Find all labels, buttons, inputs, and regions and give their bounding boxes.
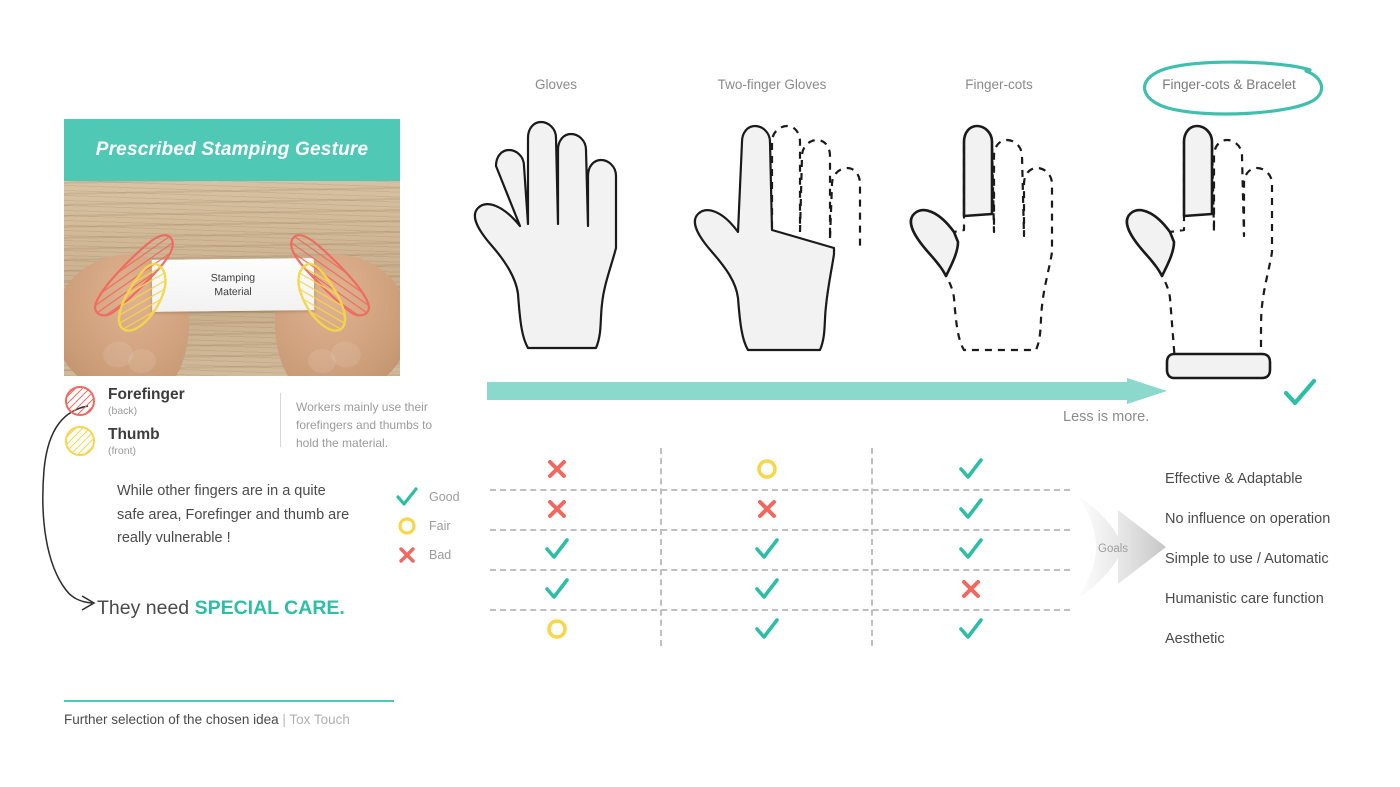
option-title-finger-cots-bracelet[interactable]: Finger-cots & Bracelet bbox=[1162, 77, 1296, 92]
goal-item: Effective & Adaptable bbox=[1165, 459, 1395, 499]
gesture-photo: StampingMaterial bbox=[64, 181, 400, 376]
matrix-cell-check bbox=[745, 612, 789, 646]
matrix-cell-check bbox=[949, 612, 993, 646]
finger-legend: Forefinger (back) Thumb (front) bbox=[64, 385, 404, 465]
circle-icon bbox=[394, 515, 420, 537]
matrix-cell-check bbox=[745, 572, 789, 606]
matrix-cell-check bbox=[949, 492, 993, 526]
comparison-matrix bbox=[490, 452, 1070, 652]
legend-sub-forefinger: (back) bbox=[108, 405, 185, 417]
option-title-gloves[interactable]: Gloves bbox=[535, 77, 577, 92]
legend-note: Workers mainly use their forefingers and… bbox=[296, 399, 456, 452]
slide-canvas: Prescribed Stamping Gesture StampingMate… bbox=[0, 0, 1400, 787]
stamping-material-label: StampingMaterial bbox=[211, 271, 256, 300]
special-care-prefix: They need bbox=[97, 597, 195, 619]
footer-rule bbox=[64, 700, 394, 702]
hatched-circle-icon bbox=[64, 385, 96, 417]
cross-icon bbox=[394, 544, 420, 566]
matrix-cell-circle bbox=[745, 452, 789, 486]
hand-figure-two-finger-gloves bbox=[680, 108, 880, 370]
rating-legend: Good Fair Bad bbox=[394, 482, 460, 569]
goals-arrow-label: Goals bbox=[1098, 543, 1128, 555]
matrix-cell-check bbox=[949, 532, 993, 566]
bracelet-shape bbox=[1167, 354, 1270, 378]
goal-item: Simple to use / Automatic bbox=[1165, 539, 1395, 579]
left-thumb-marker bbox=[114, 261, 176, 335]
body-copy: While other fingers are in a quite safe … bbox=[117, 480, 357, 551]
hatched-circle-icon bbox=[64, 425, 96, 457]
legend-sub-thumb: (front) bbox=[108, 445, 160, 457]
less-is-more-arrow bbox=[487, 378, 1167, 404]
matrix-row-divider bbox=[490, 489, 1070, 491]
special-care-highlight: SPECIAL CARE. bbox=[195, 597, 345, 619]
matrix-cell-cross bbox=[949, 572, 993, 606]
less-is-more-label: Less is more. bbox=[1063, 409, 1149, 425]
footer-sub: Tox Touch bbox=[289, 712, 350, 727]
matrix-cell-check bbox=[745, 532, 789, 566]
card-title: Prescribed Stamping Gesture bbox=[96, 139, 369, 161]
goal-item: Aesthetic bbox=[1165, 619, 1395, 659]
matrix-row-divider bbox=[490, 529, 1070, 531]
option-title-two-finger-gloves[interactable]: Two-finger Gloves bbox=[718, 77, 827, 92]
rating-legend-bad: Bad bbox=[394, 540, 460, 569]
matrix-cell-check bbox=[535, 572, 579, 606]
matrix-row-divider bbox=[490, 569, 1070, 571]
matrix-cell-circle bbox=[535, 612, 579, 646]
legend-divider bbox=[280, 393, 281, 447]
matrix-row-divider bbox=[490, 609, 1070, 611]
matrix-cell-cross bbox=[535, 492, 579, 526]
footer-main: Further selection of the chosen idea bbox=[64, 712, 279, 727]
right-thumb-marker bbox=[288, 261, 350, 335]
matrix-col-divider bbox=[660, 448, 662, 646]
card-header: Prescribed Stamping Gesture bbox=[64, 119, 400, 181]
footer-text: Further selection of the chosen idea | T… bbox=[64, 712, 394, 727]
rating-legend-fair: Fair bbox=[394, 511, 460, 540]
prescribed-gesture-card: Prescribed Stamping Gesture StampingMate… bbox=[64, 119, 400, 376]
rating-legend-bad-label: Bad bbox=[429, 548, 451, 562]
option-title-finger-cots[interactable]: Finger-cots bbox=[965, 77, 1033, 92]
matrix-cell-cross bbox=[535, 452, 579, 486]
footer-separator: | bbox=[279, 712, 290, 727]
hand-figure-finger-cots bbox=[896, 108, 1096, 370]
footer: Further selection of the chosen idea | T… bbox=[64, 700, 394, 727]
check-icon bbox=[394, 486, 420, 508]
rating-legend-good-label: Good bbox=[429, 490, 460, 504]
special-care-statement: They need SPECIAL CARE. bbox=[97, 597, 345, 620]
rating-legend-good: Good bbox=[394, 482, 460, 511]
selected-option-check-icon bbox=[1283, 378, 1317, 408]
matrix-cell-check bbox=[535, 532, 579, 566]
matrix-cell-cross bbox=[745, 492, 789, 526]
goals-list: Effective & Adaptable No influence on op… bbox=[1165, 459, 1395, 659]
legend-label-thumb: Thumb bbox=[108, 426, 160, 443]
hand-figure-gloves bbox=[462, 108, 662, 370]
goal-item: Humanistic care function bbox=[1165, 579, 1395, 619]
rating-legend-fair-label: Fair bbox=[429, 519, 451, 533]
matrix-cell-check bbox=[949, 452, 993, 486]
goal-item: No influence on operation bbox=[1165, 499, 1395, 539]
legend-label-forefinger: Forefinger bbox=[108, 386, 185, 403]
matrix-col-divider bbox=[871, 448, 873, 646]
hand-figure-finger-cots-bracelet bbox=[1112, 108, 1322, 408]
